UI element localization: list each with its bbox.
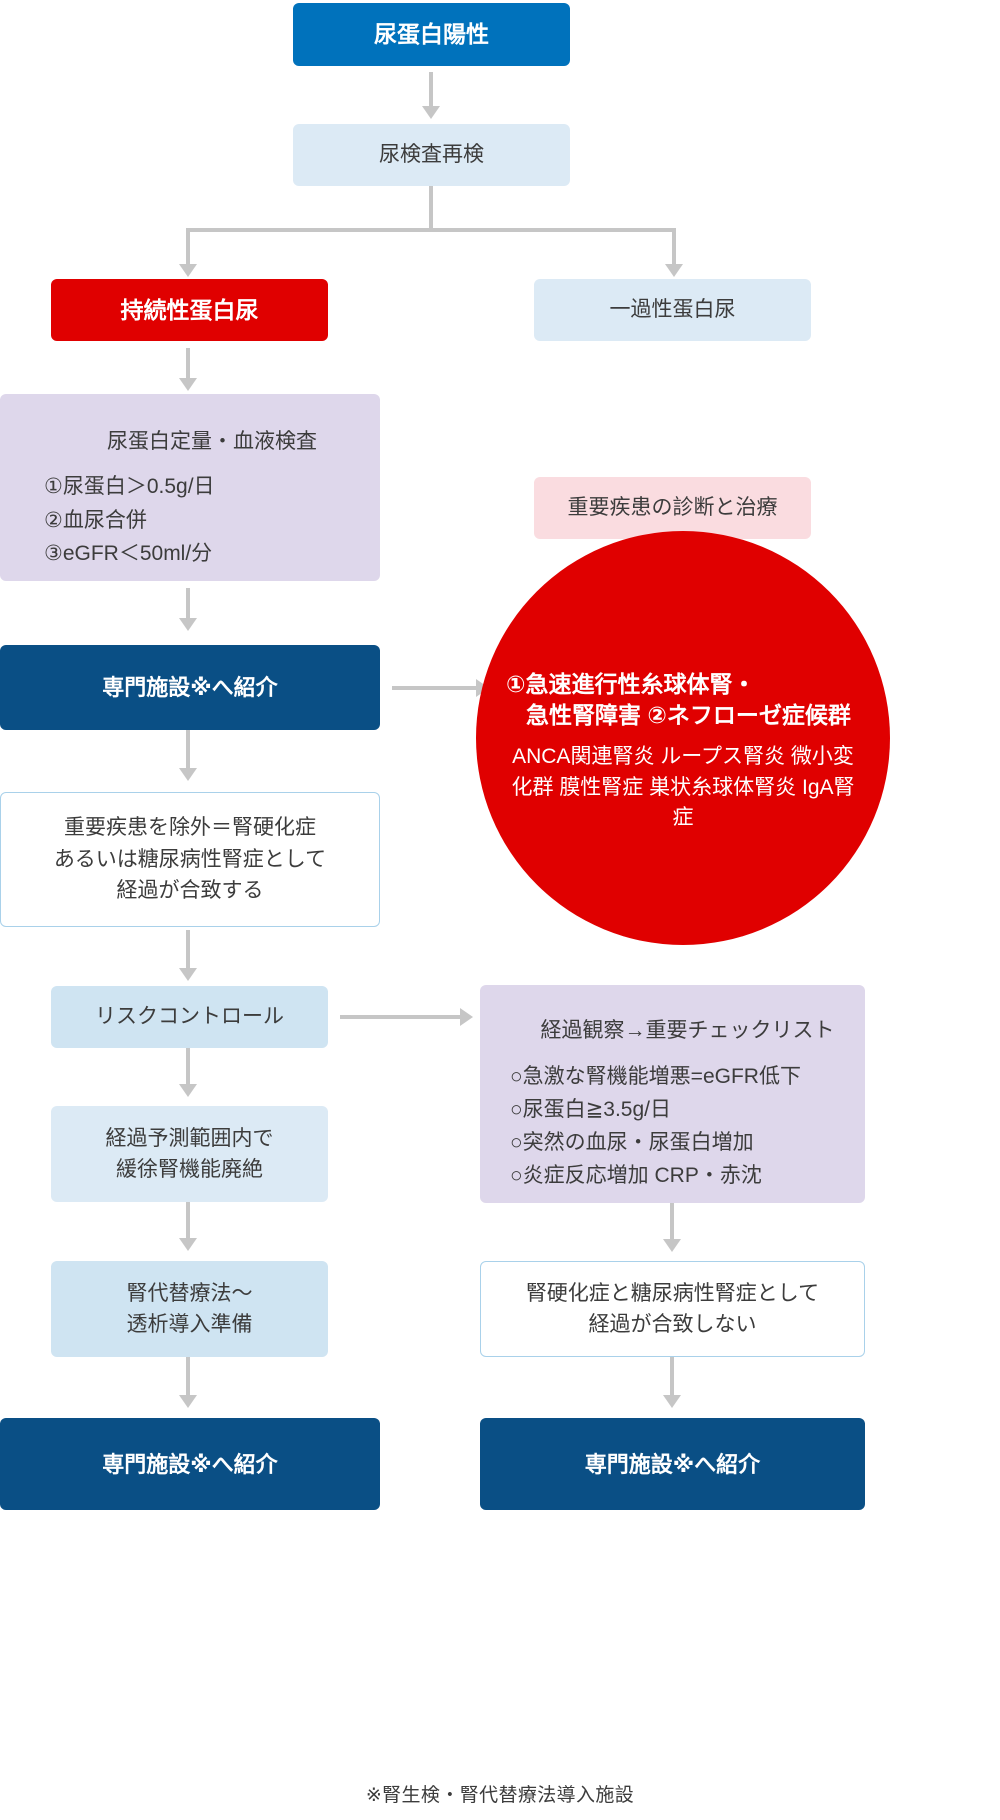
disease-item-5: 巣状糸球体腎炎 (649, 776, 796, 799)
checklist-item-4: ○炎症反応増加 CRP・赤沈 (510, 1159, 762, 1192)
disease-item-1: ANCA関連腎炎 (512, 745, 654, 768)
connector-risk-to-checklist (340, 1015, 460, 1019)
node-important-diseases-circle[interactable]: ①急速進行性糸球体腎・ 急性腎障害 ②ネフローゼ症候群 ANCA関連腎炎 ループ… (476, 531, 890, 945)
node-course-not-matching-line-1: 腎硬化症と糖尿病性腎症として (526, 1278, 819, 1310)
node-referral-specialist-mid-label: 専門施設※へ紹介 (102, 671, 277, 704)
node-slow-renal-decline[interactable]: 経過予測範囲内で 緩徐腎機能廃絶 (51, 1106, 328, 1202)
node-start[interactable]: 尿蛋白陽性 (293, 3, 570, 66)
disease-item-4: 膜性腎症 (559, 776, 643, 799)
arrowhead-rrt-referral (179, 1395, 197, 1408)
node-quantitative-test-item-3: ③eGFR＜50ml/分 (44, 537, 212, 570)
node-exclude-line-1: 重要疾患を除外＝腎硬化症 (64, 812, 316, 844)
node-quantitative-test-item-1: ①尿蛋白＞0.5g/日 (44, 470, 215, 503)
node-risk-control[interactable]: リスクコントロール (51, 986, 328, 1048)
connector-risk-slow (186, 1048, 190, 1086)
arrowhead-risk-to-checklist (460, 1008, 473, 1026)
node-persistent-proteinuria-label: 持続性蛋白尿 (121, 293, 259, 328)
node-exclude-important-disease[interactable]: 重要疾患を除外＝腎硬化症 あるいは糖尿病性腎症として 経過が合致する (0, 792, 380, 927)
node-exclude-line-3: 経過が合致する (117, 875, 264, 907)
node-transient-proteinuria[interactable]: 一過性蛋白尿 (534, 279, 811, 341)
connector-retest-down (429, 186, 433, 230)
node-referral-bottom-left-label: 専門施設※へ紹介 (102, 1448, 277, 1481)
node-rrt-line-1: 腎代替療法〜 (127, 1278, 253, 1310)
node-followup-checklist[interactable]: 経過観察→重要チェックリスト ○急激な腎機能増悪=eGFR低下 ○尿蛋白≧3.5… (480, 985, 865, 1203)
node-followup-checklist-title: 経過観察→重要チェックリスト (510, 1015, 895, 1047)
arrowhead-slow-rrt (179, 1238, 197, 1251)
node-referral-specialist-mid[interactable]: 専門施設※へ紹介 (0, 645, 380, 730)
important-disease-headline-2: 急性腎障害 (506, 702, 641, 728)
node-rrt-line-2: 透析導入準備 (127, 1309, 253, 1341)
node-course-not-matching-line-2: 経過が合致しない (589, 1309, 757, 1341)
arrowhead-branch-right (665, 264, 683, 277)
node-slow-renal-decline-line-1: 経過予測範囲内で (106, 1123, 274, 1155)
arrowhead-risk-slow (179, 1084, 197, 1097)
node-important-disease-banner-label: 重要疾患の診断と治療 (568, 492, 778, 524)
node-quantitative-test-item-2: ②血尿合併 (44, 504, 147, 537)
node-referral-specialist-bottom-right[interactable]: 専門施設※へ紹介 (480, 1418, 865, 1510)
important-disease-headline-3: ②ネフローゼ症候群 (647, 702, 850, 728)
node-transient-proteinuria-label: 一過性蛋白尿 (610, 294, 736, 326)
node-exclude-line-2: あるいは糖尿病性腎症として (54, 844, 326, 876)
checklist-item-3: ○突然の血尿・尿蛋白増加 (510, 1126, 754, 1159)
important-diseases-headlines: ①急速進行性糸球体腎・ 急性腎障害 ②ネフローゼ症候群 (506, 669, 860, 732)
node-renal-replacement-therapy[interactable]: 腎代替療法〜 透析導入準備 (51, 1261, 328, 1357)
node-referral-specialist-bottom-left[interactable]: 専門施設※へ紹介 (0, 1418, 380, 1510)
connector-referral-exclude (186, 730, 190, 770)
arrowhead-checklist-notmatch (663, 1239, 681, 1252)
connector-referral-to-circle (392, 686, 476, 690)
arrowhead-start-retest (422, 106, 440, 119)
checklist-item-2: ○尿蛋白≧3.5g/日 (510, 1093, 671, 1126)
connector-branch-right (672, 228, 676, 266)
important-diseases-list: ANCA関連腎炎 ループス腎炎 微小変化群 膜性腎症 巣状糸球体腎炎 IgA腎症 (506, 742, 860, 833)
arrowhead-referral-exclude (179, 768, 197, 781)
connector-exclude-risk (186, 930, 190, 970)
disease-item-2: ループス腎炎 (660, 745, 785, 768)
node-quantitative-test[interactable]: 尿蛋白定量・血液検査 ①尿蛋白＞0.5g/日 ②血尿合併 ③eGFR＜50ml/… (0, 394, 380, 581)
connector-retest-split (186, 228, 676, 232)
flowchart-canvas: 尿蛋白陽性 尿検査再検 持続性蛋白尿 一過性蛋白尿 尿蛋白定量・血液検査 ①尿蛋… (0, 0, 1000, 1820)
node-retest[interactable]: 尿検査再検 (293, 124, 570, 186)
node-quantitative-test-title: 尿蛋白定量・血液検査 (44, 426, 424, 458)
node-course-not-matching[interactable]: 腎硬化症と糖尿病性腎症として 経過が合致しない (480, 1261, 865, 1357)
connector-notmatch-referral (670, 1357, 674, 1397)
connector-rrt-referral (186, 1357, 190, 1397)
node-start-label: 尿蛋白陽性 (374, 17, 489, 52)
connector-start-retest (429, 72, 433, 108)
connector-quant-referral (186, 588, 190, 620)
node-risk-control-label: リスクコントロール (95, 1001, 284, 1033)
connector-persistent-quant (186, 348, 190, 380)
node-important-disease-banner[interactable]: 重要疾患の診断と治療 (534, 477, 811, 539)
arrowhead-quant-referral (179, 618, 197, 631)
node-retest-label: 尿検査再検 (379, 139, 484, 171)
arrowhead-branch-left (179, 264, 197, 277)
connector-checklist-notmatch (670, 1203, 674, 1241)
connector-slow-rrt (186, 1202, 190, 1240)
arrowhead-notmatch-referral (663, 1395, 681, 1408)
footnote: ※腎生検・腎代替療法導入施設 (0, 1780, 1000, 1807)
arrowhead-persistent-quant (179, 378, 197, 391)
node-persistent-proteinuria[interactable]: 持続性蛋白尿 (51, 279, 328, 341)
connector-branch-left (186, 228, 190, 266)
node-slow-renal-decline-line-2: 緩徐腎機能廃絶 (116, 1154, 263, 1186)
important-disease-headline-1: ①急速進行性糸球体腎・ (506, 671, 755, 697)
checklist-item-1: ○急激な腎機能増悪=eGFR低下 (510, 1060, 801, 1093)
node-referral-bottom-right-label: 専門施設※へ紹介 (585, 1448, 760, 1481)
arrowhead-exclude-risk (179, 968, 197, 981)
